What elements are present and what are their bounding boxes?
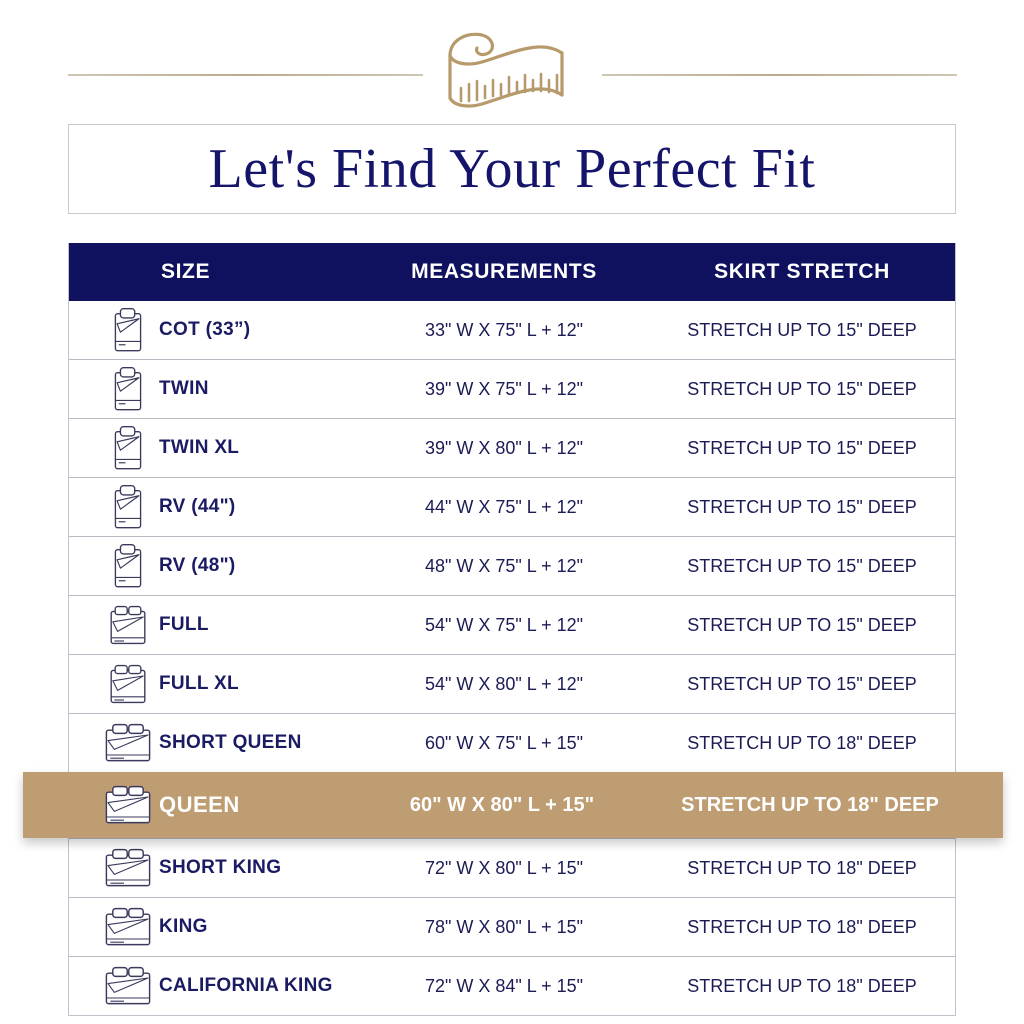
- cell-size: TWIN XL: [69, 425, 359, 472]
- cell-size: KING: [69, 907, 359, 947]
- cell-size: CALIFORNIA KING: [69, 966, 359, 1006]
- table-row[interactable]: KING78" W X 80" L + 15"STRETCH UP TO 18"…: [69, 897, 955, 956]
- size-label: RV (48"): [159, 555, 236, 577]
- bed-wide-two-pillow-icon: [97, 966, 159, 1006]
- cell-size: QUEEN: [23, 785, 359, 825]
- measuring-tape-icon: [420, 26, 610, 114]
- size-label: TWIN: [159, 378, 209, 400]
- table-row[interactable]: COT (33”)33" W X 75" L + 12"STRETCH UP T…: [69, 301, 955, 359]
- bed-wide-two-pillow-icon: [97, 848, 159, 888]
- page-title-box: Let's Find Your Perfect Fit: [68, 124, 956, 214]
- cell-size: RV (48"): [69, 543, 359, 590]
- cell-skirt-stretch: STRETCH UP TO 15" DEEP: [649, 556, 955, 577]
- bed-narrow-one-pillow-icon: [97, 543, 159, 590]
- cell-measurements: 60" W X 75" L + 15": [359, 733, 649, 754]
- size-chart-table: SIZE MEASUREMENTS SKIRT STRETCH COT (33”…: [68, 243, 956, 1016]
- table-body: COT (33”)33" W X 75" L + 12"STRETCH UP T…: [69, 301, 955, 1015]
- cell-skirt-stretch: STRETCH UP TO 15" DEEP: [649, 615, 955, 636]
- cell-measurements: 48" W X 75" L + 12": [359, 556, 649, 577]
- table-row[interactable]: RV (44")44" W X 75" L + 12"STRETCH UP TO…: [69, 477, 955, 536]
- cell-skirt-stretch: STRETCH UP TO 18" DEEP: [649, 976, 955, 997]
- table-row[interactable]: RV (48")48" W X 75" L + 12"STRETCH UP TO…: [69, 536, 955, 595]
- cell-measurements: 39" W X 80" L + 12": [359, 438, 649, 459]
- table-row[interactable]: SHORT QUEEN60" W X 75" L + 15"STRETCH UP…: [69, 713, 955, 772]
- cell-measurements: 44" W X 75" L + 12": [359, 497, 649, 518]
- cell-size: FULL: [69, 604, 359, 646]
- ornament-divider-left: [68, 74, 423, 76]
- table-row[interactable]: SHORT KING72" W X 80" L + 15"STRETCH UP …: [69, 838, 955, 897]
- size-label: QUEEN: [159, 792, 240, 818]
- cell-measurements: 39" W X 75" L + 12": [359, 379, 649, 400]
- cell-size: TWIN: [69, 366, 359, 413]
- table-row[interactable]: FULL XL54" W X 80" L + 12"STRETCH UP TO …: [69, 654, 955, 713]
- bed-narrow-one-pillow-icon: [97, 307, 159, 354]
- column-header-skirt-stretch: SKIRT STRETCH: [649, 260, 955, 284]
- cell-measurements: 33" W X 75" L + 12": [359, 320, 649, 341]
- cell-measurements: 60" W X 80" L + 15": [359, 794, 645, 817]
- bed-wide-two-pillow-icon: [97, 723, 159, 763]
- cell-skirt-stretch: STRETCH UP TO 18" DEEP: [645, 794, 975, 817]
- cell-measurements: 78" W X 80" L + 15": [359, 917, 649, 938]
- size-label: SHORT QUEEN: [159, 732, 302, 754]
- bed-medium-two-pillow-icon: [97, 604, 159, 646]
- cell-skirt-stretch: STRETCH UP TO 18" DEEP: [649, 733, 955, 754]
- size-label: RV (44"): [159, 496, 236, 518]
- column-header-size: SIZE: [69, 260, 359, 284]
- size-label: SHORT KING: [159, 857, 281, 879]
- cell-size: COT (33”): [69, 307, 359, 354]
- table-row[interactable]: TWIN XL39" W X 80" L + 12"STRETCH UP TO …: [69, 418, 955, 477]
- header-ornament: [0, 0, 1024, 120]
- ornament-divider-right: [602, 74, 957, 76]
- page-title: Let's Find Your Perfect Fit: [209, 141, 816, 197]
- cell-size: SHORT KING: [69, 848, 359, 888]
- cell-skirt-stretch: STRETCH UP TO 15" DEEP: [649, 379, 955, 400]
- cell-measurements: 72" W X 80" L + 15": [359, 858, 649, 879]
- cell-skirt-stretch: STRETCH UP TO 18" DEEP: [649, 858, 955, 879]
- cell-skirt-stretch: STRETCH UP TO 15" DEEP: [649, 497, 955, 518]
- cell-size: FULL XL: [69, 663, 359, 705]
- column-header-measurements: MEASUREMENTS: [359, 260, 649, 284]
- size-label: FULL: [159, 614, 209, 636]
- table-row-spacer: QUEEN60" W X 80" L + 15"STRETCH UP TO 18…: [69, 772, 955, 838]
- size-label: TWIN XL: [159, 437, 239, 459]
- cell-size: RV (44"): [69, 484, 359, 531]
- size-label: FULL XL: [159, 673, 239, 695]
- table-row[interactable]: FULL54" W X 75" L + 12"STRETCH UP TO 15"…: [69, 595, 955, 654]
- bed-medium-two-pillow-icon: [97, 663, 159, 705]
- bed-wide-two-pillow-icon: [97, 907, 159, 947]
- cell-measurements: 54" W X 80" L + 12": [359, 674, 649, 695]
- table-row[interactable]: CALIFORNIA KING72" W X 84" L + 15"STRETC…: [69, 956, 955, 1015]
- bed-narrow-one-pillow-icon: [97, 366, 159, 413]
- size-label: COT (33”): [159, 319, 250, 341]
- cell-measurements: 54" W X 75" L + 12": [359, 615, 649, 636]
- cell-skirt-stretch: STRETCH UP TO 15" DEEP: [649, 674, 955, 695]
- cell-skirt-stretch: STRETCH UP TO 15" DEEP: [649, 320, 955, 341]
- table-header-row: SIZE MEASUREMENTS SKIRT STRETCH: [69, 243, 955, 301]
- table-row[interactable]: TWIN39" W X 75" L + 12"STRETCH UP TO 15"…: [69, 359, 955, 418]
- cell-skirt-stretch: STRETCH UP TO 15" DEEP: [649, 438, 955, 459]
- table-row-highlighted[interactable]: QUEEN60" W X 80" L + 15"STRETCH UP TO 18…: [23, 772, 1003, 838]
- size-label: CALIFORNIA KING: [159, 975, 333, 997]
- cell-skirt-stretch: STRETCH UP TO 18" DEEP: [649, 917, 955, 938]
- bed-narrow-one-pillow-icon: [97, 484, 159, 531]
- bed-narrow-one-pillow-icon: [97, 425, 159, 472]
- bed-wide-two-pillow-icon: [97, 785, 159, 825]
- cell-measurements: 72" W X 84" L + 15": [359, 976, 649, 997]
- size-label: KING: [159, 916, 208, 938]
- cell-size: SHORT QUEEN: [69, 723, 359, 763]
